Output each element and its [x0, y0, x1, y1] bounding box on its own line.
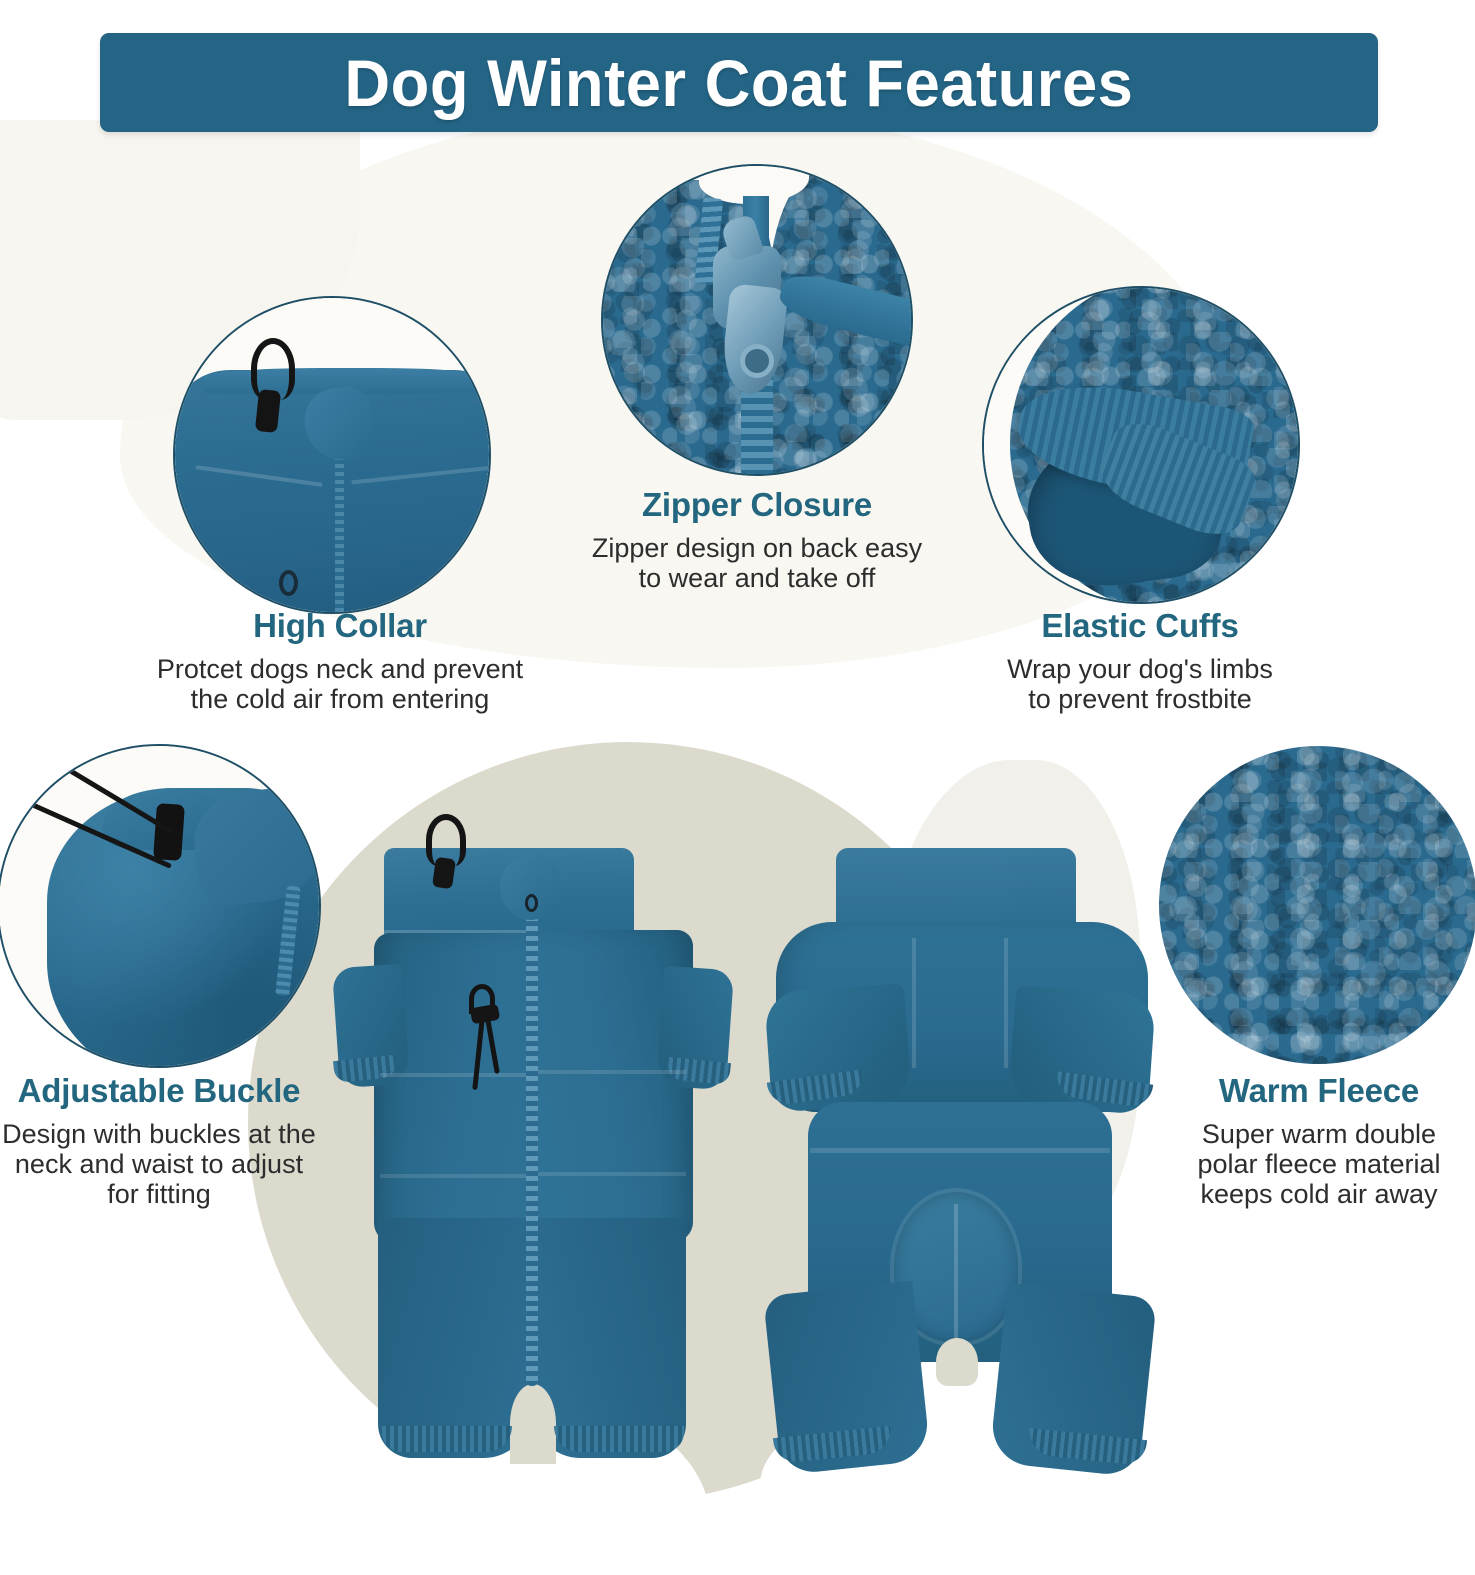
- coat-back-view: [760, 818, 1160, 1488]
- zipper-photo: [601, 164, 913, 476]
- collar-cord-lock-toggle: [255, 389, 281, 433]
- front-leg-left-cuff: [382, 1426, 512, 1452]
- feature-warm-fleece-heading: Warm Fleece: [1163, 1073, 1475, 1110]
- feature-elastic-cuffs-body: Wrap your dog's limbs to prevent frostbi…: [925, 654, 1355, 714]
- front-inner-leg-gap: [510, 1384, 556, 1464]
- feature-adjustable-buckle-body: Design with buckles at the neck and wais…: [0, 1119, 318, 1210]
- feature-zipper-closure-heading: Zipper Closure: [537, 487, 977, 524]
- feature-high-collar: High Collar Protcet dogs neck and preven…: [120, 608, 560, 714]
- collar-lower-grommet: [279, 570, 298, 596]
- front-collar-grommet: [525, 894, 538, 912]
- front-leg-right: [534, 1218, 686, 1458]
- elastic-cuff-photo: [982, 286, 1300, 604]
- feature-adjustable-buckle: Adjustable Buckle Design with buckles at…: [0, 1073, 318, 1210]
- page-title-banner: Dog Winter Coat Features: [100, 33, 1378, 132]
- front-waist-seam-lower: [380, 1174, 526, 1178]
- feature-zipper-closure: Zipper Closure Zipper design on back eas…: [537, 487, 977, 593]
- adjustable-buckle-photo: [0, 744, 321, 1068]
- back-panel-seam-right: [1004, 938, 1008, 1068]
- zipper-pull-hole: [740, 344, 774, 378]
- high-collar-photo: [173, 296, 491, 614]
- front-waist-seam-lower-r: [538, 1172, 686, 1176]
- feature-warm-fleece: Warm Fleece Super warm double polar flee…: [1163, 1073, 1475, 1210]
- feature-zipper-closure-body: Zipper design on back easy to wear and t…: [537, 533, 977, 593]
- feature-high-collar-body: Protcet dogs neck and prevent the cold a…: [120, 654, 560, 714]
- feature-adjustable-buckle-heading: Adjustable Buckle: [0, 1073, 318, 1110]
- feature-warm-fleece-body: Super warm double polar fleece material …: [1163, 1119, 1475, 1210]
- back-panel-seam-left: [912, 938, 916, 1068]
- back-potty-center-seam: [954, 1204, 958, 1342]
- back-crotch-notch: [936, 1338, 978, 1386]
- feature-elastic-cuffs: Elastic Cuffs Wrap your dog's limbs to p…: [925, 608, 1355, 714]
- front-waist-seam-upper: [380, 1073, 526, 1077]
- front-leg-right-cuff: [554, 1426, 684, 1452]
- feature-elastic-cuffs-heading: Elastic Cuffs: [925, 608, 1355, 645]
- feature-high-collar-heading: High Collar: [120, 608, 560, 645]
- coat-front-view: [330, 818, 730, 1488]
- front-waist-seam-upper-r: [538, 1070, 686, 1074]
- front-center-zipper: [526, 906, 538, 1386]
- front-leg-left: [378, 1218, 530, 1458]
- front-neck-cord-toggle: [432, 857, 456, 889]
- back-torso-seam: [810, 1148, 1110, 1153]
- page-title: Dog Winter Coat Features: [345, 45, 1134, 121]
- warm-fleece-photo: [1159, 746, 1475, 1064]
- warm-fleece-texture: [1159, 746, 1475, 1064]
- back-collar-band: [836, 848, 1076, 928]
